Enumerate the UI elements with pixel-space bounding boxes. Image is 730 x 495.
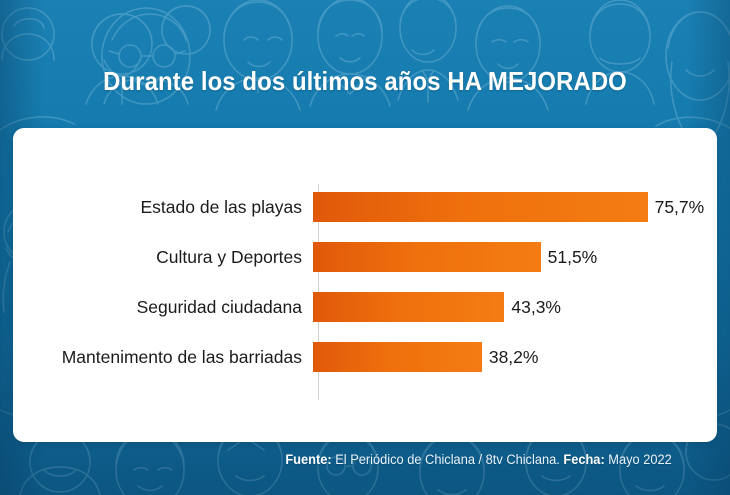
bar — [313, 192, 648, 222]
date-label: Fecha: — [564, 452, 605, 467]
bar-row: Seguridad ciudadana43,3% — [13, 290, 717, 324]
bar-zone: 43,3% — [313, 290, 717, 324]
bar-value-label: 51,5% — [548, 247, 598, 268]
source-label: Fuente: — [286, 452, 332, 467]
bar — [313, 292, 504, 322]
bar-row: Estado de las playas75,7% — [13, 190, 717, 224]
page-title: Durante los dos últimos años HA MEJORADO — [29, 66, 701, 97]
bar-category-label: Mantenimento de las barriadas — [13, 348, 313, 366]
bar-row: Cultura y Deportes51,5% — [13, 240, 717, 274]
bar-row: Mantenimento de las barriadas38,2% — [13, 340, 717, 374]
bar-category-label: Cultura y Deportes — [13, 248, 313, 266]
bar-category-label: Estado de las playas — [13, 198, 313, 216]
bar-category-label: Seguridad ciudadana — [13, 298, 313, 316]
chart-card: Estado de las playas75,7%Cultura y Depor… — [13, 128, 717, 442]
bar-chart: Estado de las playas75,7%Cultura y Depor… — [13, 128, 717, 442]
bar-value-label: 38,2% — [489, 347, 539, 368]
bar — [313, 342, 482, 372]
bar-zone: 51,5% — [313, 240, 717, 274]
bar-zone: 38,2% — [313, 340, 717, 374]
bar-zone: 75,7% — [313, 190, 717, 224]
source-footer: Fuente: El Periódico de Chiclana / 8tv C… — [286, 452, 672, 467]
date-value: Mayo 2022 — [609, 452, 672, 467]
bar-value-label: 43,3% — [511, 297, 561, 318]
bar-value-label: 75,7% — [655, 197, 705, 218]
source-value: El Periódico de Chiclana / 8tv Chiclana. — [335, 452, 560, 467]
bar — [313, 242, 541, 272]
